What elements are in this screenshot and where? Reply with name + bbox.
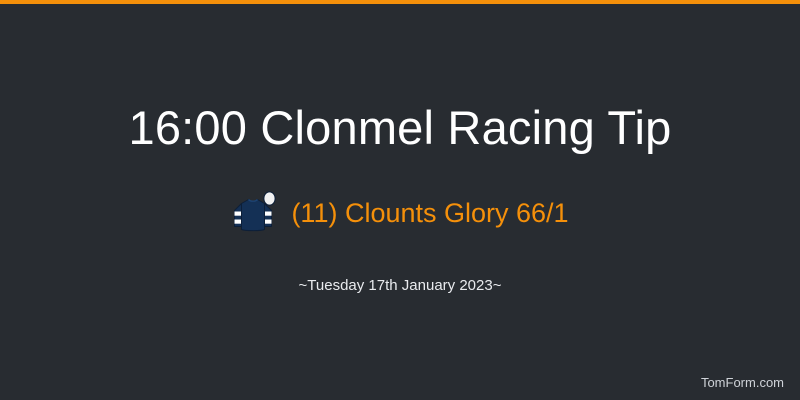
selection-label[interactable]: (11) Clounts Glory 66/1 (291, 196, 568, 230)
meeting-date: ~Tuesday 17th January 2023~ (0, 276, 800, 296)
racing-tip-card: 16:00 Clonmel Racing Tip (11) Clounts Gl… (0, 0, 800, 400)
selection-row: (11) Clounts Glory 66/1 (0, 190, 800, 236)
site-watermark: TomForm.com (701, 374, 784, 392)
page-title: 16:00 Clonmel Racing Tip (0, 100, 800, 156)
jockey-silks-icon (231, 190, 279, 236)
